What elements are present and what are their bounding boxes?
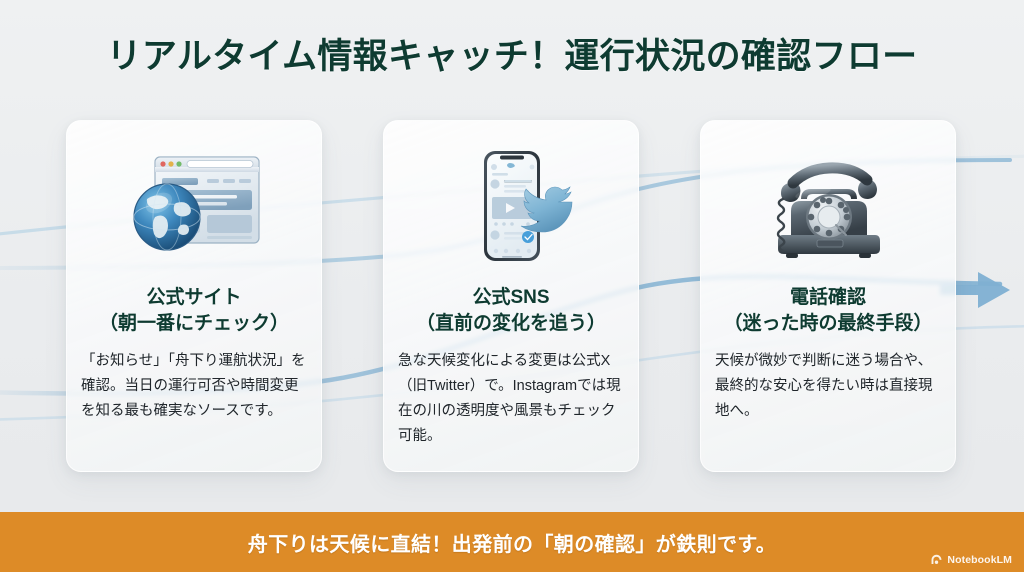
- rotary-telephone-icon: [753, 143, 903, 269]
- flow-step-card-official-site[interactable]: 公式サイト （朝一番にチェック） 「お知らせ」「舟下り運航状況」を確認。当日の運…: [66, 120, 322, 472]
- page-title: リアルタイム情報キャッチ！運行状況の確認フロー: [0, 28, 1024, 79]
- watermark-label: NotebookLM: [947, 554, 1012, 566]
- slide-canvas: リアルタイム情報キャッチ！運行状況の確認フロー: [0, 0, 1024, 572]
- card-body-text: 急な天候変化による変更は公式X（旧Twitter）で。Instagramでは現在…: [398, 349, 624, 449]
- footer-message: 舟下りは天候に直結！出発前の「朝の確認」が鉄則です。: [248, 528, 776, 557]
- website-globe-browser-icon: [119, 143, 269, 269]
- smartphone-twitter-bird-icon: [436, 143, 586, 269]
- card-body-text: 「お知らせ」「舟下り運航状況」を確認。当日の運行可否や時間変更を知る最も確実なソ…: [81, 349, 307, 424]
- card-heading: 公式サイト （朝一番にチェック）: [72, 285, 316, 337]
- card-body-text: 天候が微妙で判断に迷う場合や、最終的な安心を得たい時は直接現地へ。: [715, 349, 941, 424]
- card-heading: 公式SNS （直前の変化を追う）: [389, 285, 633, 337]
- card-heading: 電話確認 （迷った時の最終手段）: [706, 285, 950, 337]
- notebooklm-watermark: NotebookLM: [930, 553, 1012, 566]
- footer-banner: 舟下りは天候に直結！出発前の「朝の確認」が鉄則です。 NotebookLM: [0, 512, 1024, 572]
- notebooklm-logo-icon: [930, 553, 943, 566]
- flow-step-card-phone-confirm[interactable]: 電話確認 （迷った時の最終手段） 天候が微妙で判断に迷う場合や、最終的な安心を得…: [700, 120, 956, 472]
- flow-step-card-official-sns[interactable]: 公式SNS （直前の変化を追う） 急な天候変化による変更は公式X（旧Twitte…: [383, 120, 639, 472]
